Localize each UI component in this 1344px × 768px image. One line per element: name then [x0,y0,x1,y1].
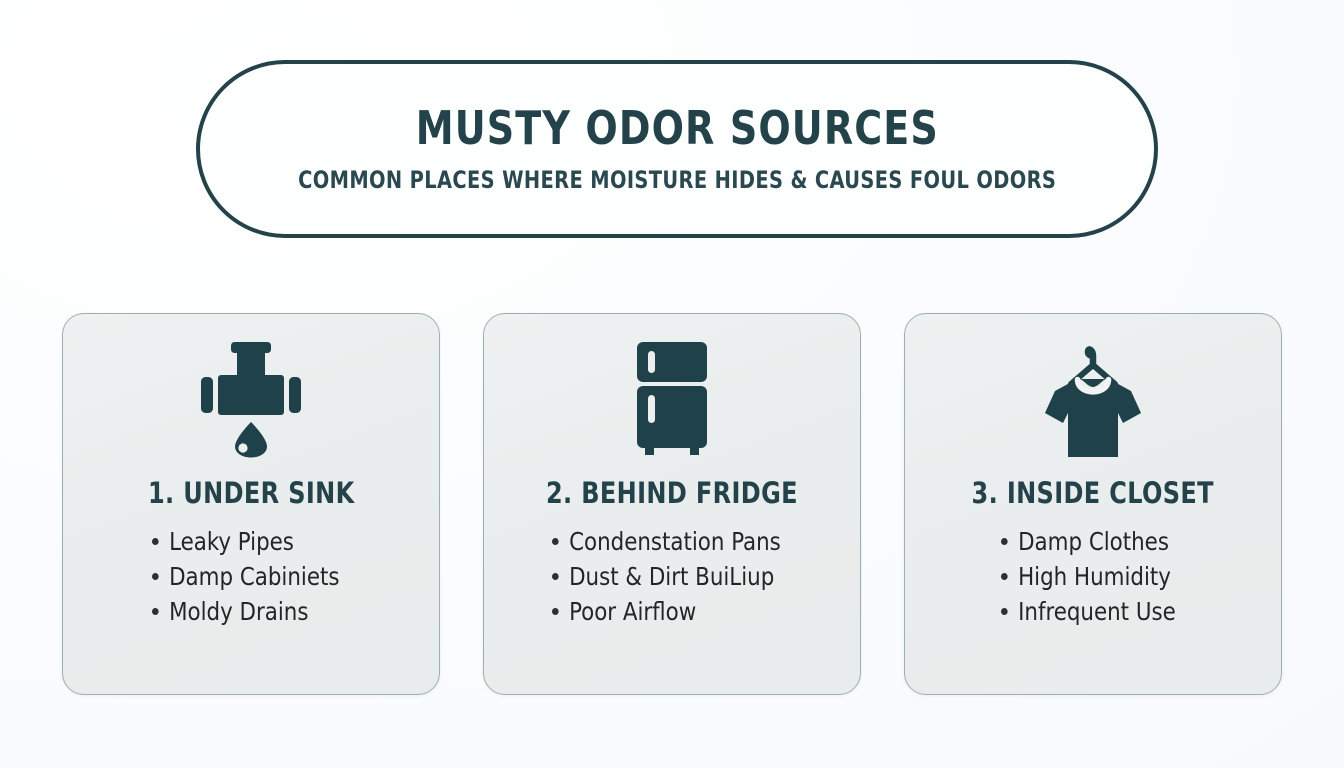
card-inside-closet[interactable]: 3. INSIDE CLOSET Damp Clothes High Humid… [904,313,1282,695]
card-list-inside-closet: Damp Clothes High Humidity Infrequent Us… [1001,524,1185,629]
bullet-icon [152,538,159,545]
card-under-sink[interactable]: 1. UNDER SINK Leaky Pipes Damp Cabiniets… [62,313,440,695]
list-item-label: Damp Cabiniets [169,559,339,594]
card-icon-container [63,314,439,474]
card-list-under-sink: Leaky Pipes Damp Cabiniets Moldy Drains [152,524,349,629]
list-item: Leaky Pipes [152,524,339,559]
card-title-under-sink: 1. UNDER SINK [148,476,355,510]
bullet-icon [152,573,159,580]
list-item-label: Infrequent Use [1018,594,1176,629]
bullet-icon [1001,538,1008,545]
refrigerator-icon [633,340,711,458]
list-item: Condenstation Pans [552,524,781,559]
bullet-icon [152,608,159,615]
card-list-behind-fridge: Condenstation Pans Dust & Dirt BuiLiup P… [552,524,793,629]
infographic-canvas: MUSTY ODOR SOURCES COMMON PLACES WHERE M… [0,0,1344,768]
bullet-icon [1001,573,1008,580]
bullet-icon [1001,608,1008,615]
list-item-label: Condenstation Pans [569,524,781,559]
list-item: Damp Clothes [1001,524,1176,559]
card-behind-fridge[interactable]: 2. BEHIND FRIDGE Condenstation Pans Dust… [483,313,861,695]
card-title-inside-closet: 3. INSIDE CLOSET [972,476,1214,510]
page-subtitle: COMMON PLACES WHERE MOISTURE HIDES & CAU… [298,166,1056,194]
list-item-label: Moldy Drains [169,594,308,629]
card-row: 1. UNDER SINK Leaky Pipes Damp Cabiniets… [62,313,1282,695]
bullet-icon [552,538,559,545]
list-item: Damp Cabiniets [152,559,339,594]
bullet-icon [552,573,559,580]
pipe-leak-icon [199,340,303,458]
header-banner: MUSTY ODOR SOURCES COMMON PLACES WHERE M… [196,60,1158,238]
list-item: High Humidity [1001,559,1176,594]
list-item-label: Damp Clothes [1018,524,1169,559]
list-item-label: High Humidity [1018,559,1171,594]
card-title-behind-fridge: 2. BEHIND FRIDGE [546,476,798,510]
page-title: MUSTY ODOR SOURCES [415,104,938,152]
list-item: Dust & Dirt BuiLiup [552,559,781,594]
list-item: Poor Airflow [552,594,781,629]
list-item-label: Leaky Pipes [169,524,294,559]
list-item-label: Dust & Dirt BuiLiup [569,559,774,594]
list-item: Infrequent Use [1001,594,1176,629]
shirt-hanger-icon [1041,339,1145,459]
card-icon-container [905,314,1281,474]
bullet-icon [552,608,559,615]
card-icon-container [484,314,860,474]
list-item-label: Poor Airflow [569,594,696,629]
list-item: Moldy Drains [152,594,339,629]
